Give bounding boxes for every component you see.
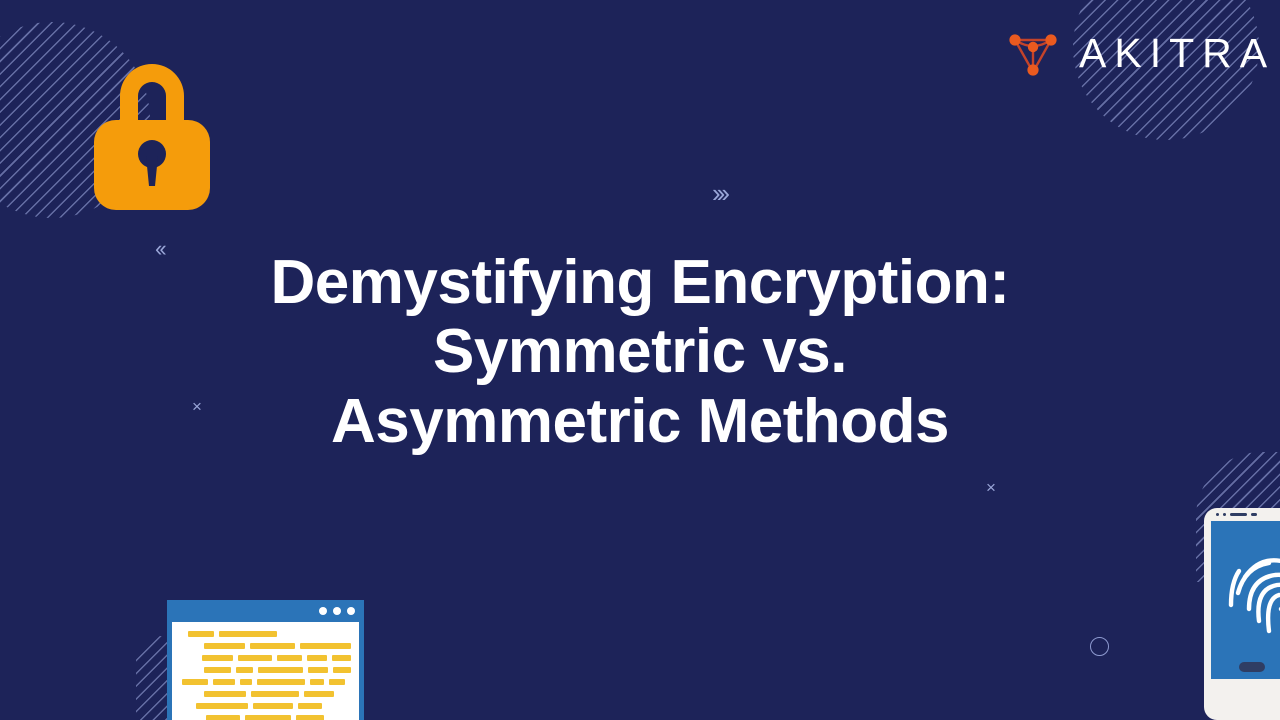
code-token xyxy=(202,655,233,661)
code-token xyxy=(236,667,252,673)
fingerprint-icon xyxy=(1225,547,1280,651)
code-window-illustration xyxy=(167,600,364,720)
phone-speaker-icon xyxy=(1230,513,1247,516)
code-window-body xyxy=(167,622,364,720)
code-line xyxy=(182,679,351,685)
code-token xyxy=(310,679,324,685)
code-token xyxy=(240,679,252,685)
code-line xyxy=(188,631,351,637)
code-token xyxy=(300,643,351,649)
code-line xyxy=(204,667,351,673)
page-title: Demystifying Encryption: Symmetric vs. A… xyxy=(140,248,1140,456)
code-token xyxy=(206,715,240,720)
code-token xyxy=(253,703,293,709)
code-token xyxy=(182,679,208,685)
code-line xyxy=(204,643,351,649)
code-token xyxy=(296,715,324,720)
code-window-titlebar xyxy=(167,600,364,622)
code-token xyxy=(277,655,302,661)
code-token xyxy=(251,691,299,697)
chevron-right-decoration: ››› xyxy=(712,180,726,206)
code-token xyxy=(196,703,248,709)
code-token xyxy=(257,679,305,685)
code-token xyxy=(238,655,272,661)
presentation-slide: ››› ‹‹ × × AKITRA Demystifying Encryptio… xyxy=(0,0,1280,720)
padlock-icon xyxy=(86,48,218,210)
code-token xyxy=(258,667,303,673)
code-line xyxy=(204,691,351,697)
window-dot-2 xyxy=(333,607,341,615)
code-token xyxy=(204,643,245,649)
code-token xyxy=(329,679,345,685)
code-token xyxy=(188,631,214,637)
brand-wordmark: AKITRA xyxy=(1079,30,1275,77)
window-dot-1 xyxy=(319,607,327,615)
phone-screen xyxy=(1211,521,1280,679)
code-token xyxy=(213,679,235,685)
code-token xyxy=(245,715,291,720)
code-token xyxy=(250,643,294,649)
code-token xyxy=(204,667,231,673)
title-line-2: Symmetric vs. xyxy=(140,317,1140,386)
code-token xyxy=(204,691,246,697)
phone-sensors xyxy=(1216,513,1257,516)
code-token xyxy=(219,631,277,637)
ring-decoration xyxy=(1090,637,1109,656)
phone-home-button xyxy=(1239,662,1265,672)
akitra-logo: AKITRA xyxy=(1003,24,1275,82)
title-line-1: Demystifying Encryption: xyxy=(140,248,1140,317)
cross-decoration-right: × xyxy=(986,479,996,496)
phone-sensor-dot-icon xyxy=(1223,513,1226,516)
phone-proximity-icon xyxy=(1251,513,1257,516)
smartphone-illustration xyxy=(1204,508,1280,720)
code-line xyxy=(206,715,351,720)
code-line xyxy=(196,703,351,709)
code-token xyxy=(298,703,322,709)
code-token xyxy=(304,691,334,697)
phone-camera-icon xyxy=(1216,513,1219,516)
code-token xyxy=(308,667,328,673)
akitra-triangle-network-logo-icon xyxy=(1003,24,1063,82)
code-line xyxy=(202,655,351,661)
code-token xyxy=(307,655,327,661)
title-line-3: Asymmetric Methods xyxy=(140,387,1140,456)
window-dot-3 xyxy=(347,607,355,615)
code-token xyxy=(333,667,351,673)
code-token xyxy=(332,655,351,661)
